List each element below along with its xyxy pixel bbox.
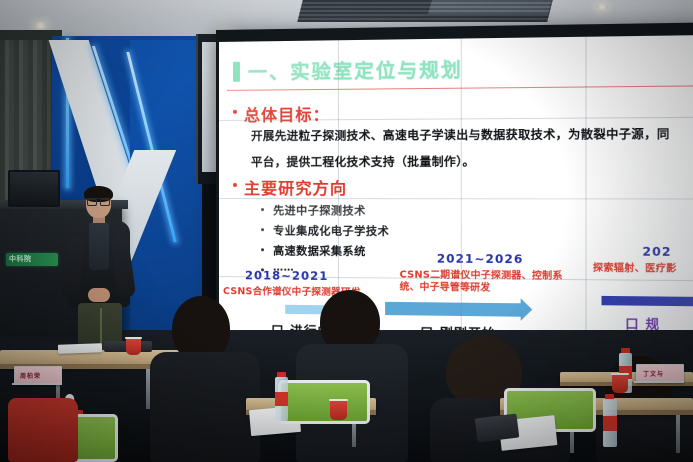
presentation-screen: 一、实验室定位与规划 总体目标： 开展先进粒子探测技术、高速电子学读出与数据获取… [219, 35, 693, 349]
paper-cup [126, 338, 141, 355]
slide-title: 一、实验室定位与规划 [248, 55, 463, 85]
sub-bullet-dot-icon [261, 228, 264, 231]
section-heading-overall-goal: 总体目标： [233, 101, 330, 126]
roadmap-year-2: 2021~2026 [437, 251, 524, 266]
roadmap-year-3: 202 [642, 244, 671, 259]
research-direction-item: 高速数据采集系统 [261, 242, 366, 259]
nameplate-text: 周柏荣 [20, 371, 41, 380]
room-door-glass [202, 42, 216, 172]
laptop [475, 414, 520, 443]
research-direction-item: 先进中子探测技术 [261, 202, 366, 218]
research-direction-item: 专业集成化电子学技术 [261, 222, 389, 239]
ceiling-downlight [596, 4, 608, 10]
section-heading-research-directions: 主要研究方向 [233, 175, 347, 199]
paper-cup-rim [329, 399, 348, 401]
roadmap-caption-2: CSNS二期谱仪中子探测器、控制系统、中子导管等研发 [400, 269, 573, 295]
presenter-shirt [89, 222, 109, 270]
led-panel-seam [585, 37, 586, 348]
chair-backrest [278, 380, 370, 424]
goal-body-line-2: 平台，提供工程化技术支持（批量制作）。 [251, 152, 693, 170]
nameplate-stand [12, 383, 62, 385]
sub-bullet-dot-icon [261, 248, 264, 251]
presenter [62, 188, 136, 358]
ceiling-vent-secondary [428, 0, 552, 14]
bullet-dot-icon [233, 183, 237, 187]
roadmap-caption-3: 探索辐射、医疗影 [593, 263, 693, 276]
ceiling-downlight [34, 22, 47, 29]
bottle-label [603, 416, 617, 431]
paper-sheet [58, 343, 102, 354]
red-coat-on-chair [8, 398, 78, 462]
title-accent-bar [233, 61, 240, 81]
chair [278, 380, 374, 438]
paper-cup-rim [125, 337, 142, 339]
paper-cup [330, 400, 347, 420]
led-panel-seam [461, 39, 462, 346]
bottle-label [275, 392, 288, 406]
goal-body-line-1: 开展先进粒子探测技术、高速电子学读出与数据获取技术，为散裂中子源，同 [251, 125, 693, 144]
roadmap-bar-3 [602, 296, 693, 307]
nameplate-stand [634, 381, 684, 383]
podium-monitor [8, 170, 60, 207]
audience-member [150, 296, 260, 462]
led-video-wall: 一、实验室定位与规划 总体目标： 开展先进粒子探测技术、高速电子学读出与数据获取… [216, 22, 693, 353]
audience-torso [150, 352, 260, 462]
table-leg [676, 415, 680, 453]
nameplate-text: 丁文与 [643, 369, 664, 378]
presenter-hands [88, 288, 110, 302]
sub-bullet-dot-icon [261, 208, 264, 211]
presenter-glasses-icon [87, 198, 110, 204]
paper-cup [612, 374, 628, 393]
slide-content: 一、实验室定位与规划 总体目标： 开展先进粒子探测技术、高速电子学读出与数据获取… [219, 35, 693, 349]
bullet-dot-icon [233, 110, 237, 114]
slide-title-row: 一、实验室定位与规划 [233, 55, 463, 85]
paper-cup-rim [611, 373, 629, 375]
podium-logo-text: 中科院 [9, 254, 57, 264]
screenshot-scene: 一、实验室定位与规划 总体目标： 开展先进粒子探测技术、高速电子学读出与数据获取… [0, 0, 693, 462]
